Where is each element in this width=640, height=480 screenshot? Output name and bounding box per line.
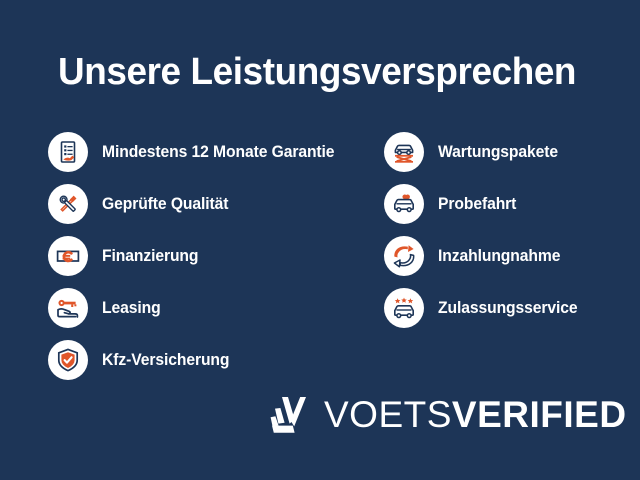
exchange-arrows-icon [384, 236, 424, 276]
feature-label: Kfz-Versicherung [102, 351, 229, 369]
feature-label: Geprüfte Qualität [102, 195, 228, 213]
features-grid: Mindestens 12 Monate Garantie [0, 126, 640, 386]
voets-v-hand-icon [268, 392, 312, 438]
feature-item-zulassungsservice: Zulassungsservice [384, 282, 640, 334]
key-in-hand-icon [48, 288, 88, 328]
feature-item-leasing: Leasing [48, 282, 340, 334]
feature-item-versicherung: Kfz-Versicherung [48, 334, 340, 386]
car-on-lift-icon [384, 132, 424, 172]
feature-label: Zulassungsservice [438, 299, 578, 317]
feature-item-wartungspakete: Wartungspakete [384, 126, 640, 178]
car-stars-icon [384, 288, 424, 328]
feature-item-qualitaet: Geprüfte Qualität [48, 178, 340, 230]
voets-verified-logo: VOETSVERIFIED [268, 392, 627, 438]
feature-label: Inzahlungnahme [438, 247, 560, 265]
feature-label: Mindestens 12 Monate Garantie [102, 143, 334, 161]
features-right-column: Wartungspakete Probefahrt [340, 126, 640, 386]
feature-label: Probefahrt [438, 195, 516, 213]
logo-wordmark: VOETSVERIFIED [324, 396, 627, 434]
logo-text-voets: VOETS [324, 394, 452, 435]
feature-item-finanzierung: Finanzierung [48, 230, 340, 282]
page-title: Unsere Leistungsversprechen [58, 50, 576, 94]
feature-item-probefahrt: Probefahrt [384, 178, 640, 230]
feature-label: Wartungspakete [438, 143, 558, 161]
feature-item-inzahlungnahme: Inzahlungnahme [384, 230, 640, 282]
feature-label: Finanzierung [102, 247, 198, 265]
features-left-column: Mindestens 12 Monate Garantie [0, 126, 340, 386]
wrench-screwdriver-icon [48, 184, 88, 224]
feature-item-garantie: Mindestens 12 Monate Garantie [48, 126, 340, 178]
banknote-euro-icon [48, 236, 88, 276]
voets-verified-banner: Unsere Leistungsversprechen [0, 0, 640, 480]
car-heart-icon [384, 184, 424, 224]
shield-check-icon [48, 340, 88, 380]
document-signature-icon [48, 132, 88, 172]
feature-label: Leasing [102, 299, 161, 317]
logo-text-verified: VERIFIED [452, 394, 627, 435]
